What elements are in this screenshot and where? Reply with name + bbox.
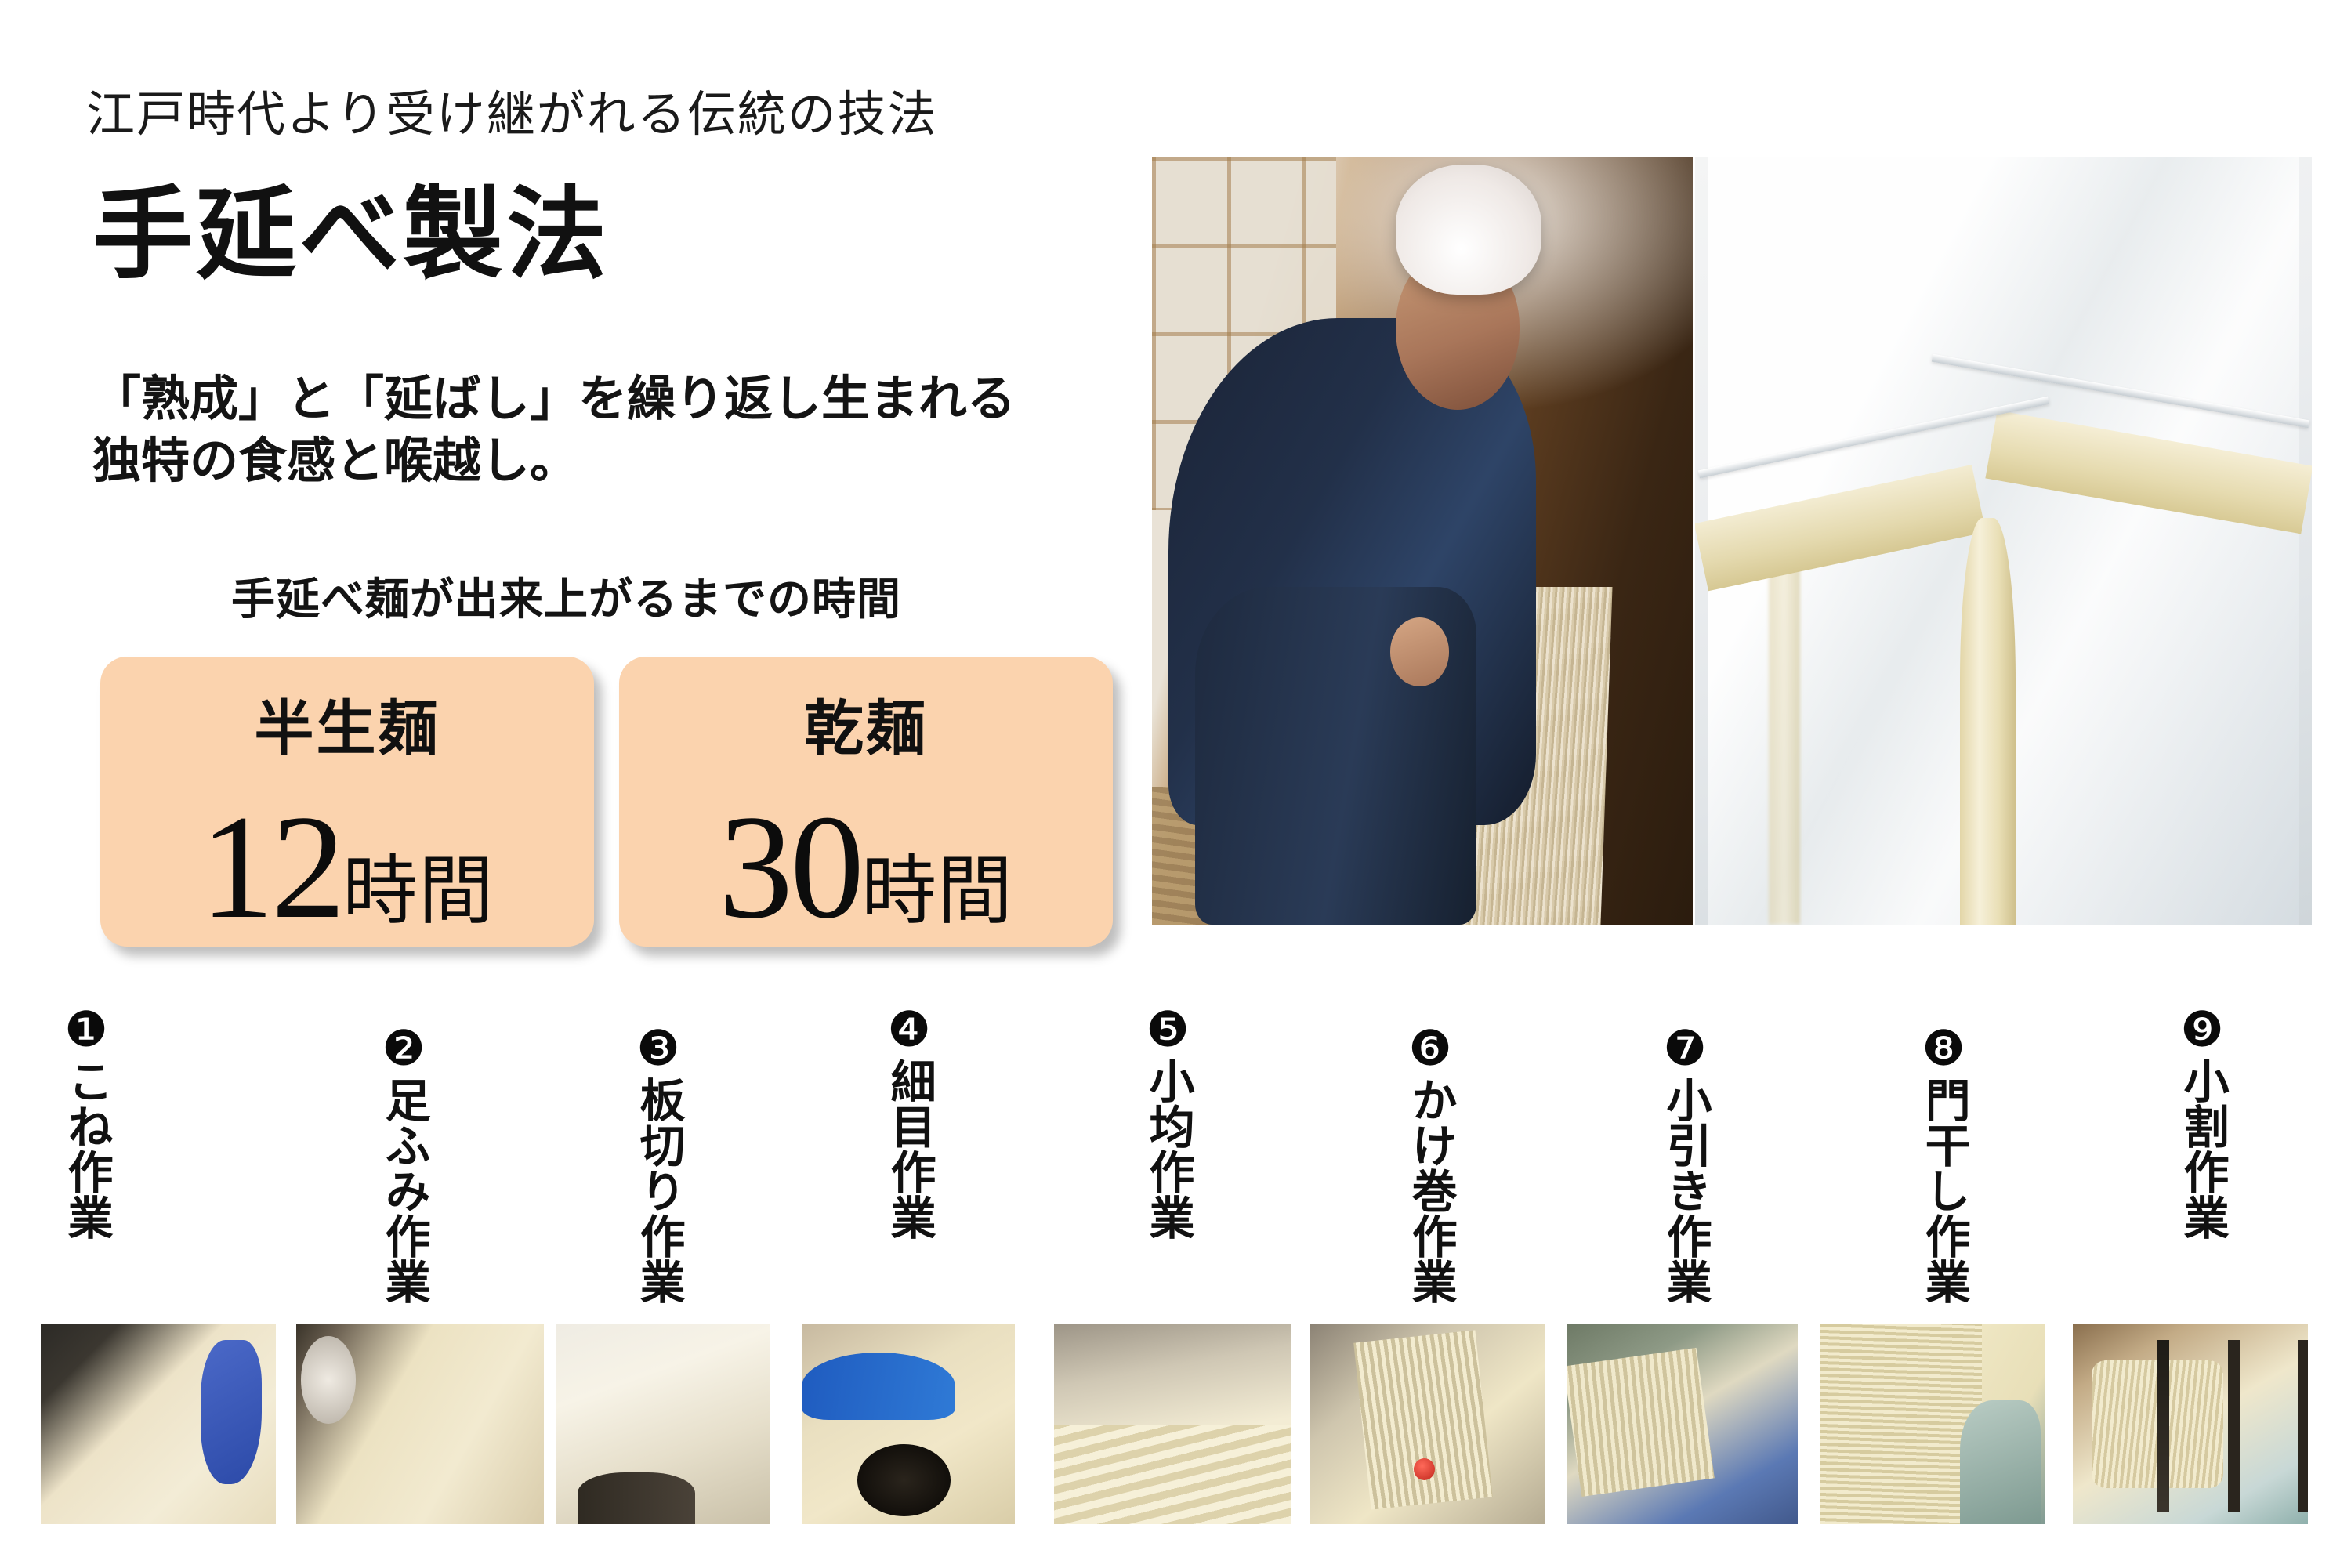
process-step-5: ❺ 小均作業	[1121, 1007, 1215, 1240]
process-step-7: ❼ 小引き作業	[1638, 1026, 1732, 1304]
step-number-badge: ❼	[1638, 1026, 1732, 1072]
time-section-caption: 手延べ麺が出来上がるまでの時間	[231, 564, 901, 628]
step-label: かけ巻作業	[1407, 1077, 1453, 1304]
hero-photo-craftsman	[1152, 157, 1693, 925]
step-thumbnail-8	[1820, 1324, 2045, 1524]
background-dough-strand	[1769, 556, 1799, 925]
step-number-badge: ❾	[2155, 1007, 2249, 1053]
time-card-unit: 時間	[342, 849, 494, 933]
process-step-list: ❶ こね作業 ❷ 足ふみ作業 ❸ 板切り作業 ❹ 細目作業 ❺ 小均作業 ❻ か…	[0, 1007, 2351, 1305]
step-label: 細目作業	[886, 1058, 932, 1240]
process-step-6: ❻ かけ巻作業	[1383, 1026, 1477, 1304]
hero-photo-stretched-dough	[1695, 157, 2312, 925]
step-label: 小均作業	[1144, 1058, 1190, 1240]
step-number-badge: ❺	[1121, 1007, 1215, 1053]
step-thumbnail-5	[1054, 1324, 1291, 1524]
time-card-value: 30時間	[619, 793, 1113, 942]
time-card-title: 半生麺	[100, 680, 594, 766]
eyebrow-text: 江戸時代より受け継がれる伝統の技法	[86, 74, 938, 145]
step-label: 門干し作業	[1920, 1077, 1966, 1304]
time-card-title: 乾麺	[619, 680, 1113, 766]
time-card-number: 12	[200, 785, 342, 950]
process-thumbnail-strip	[0, 1324, 2351, 1528]
time-card-number: 30	[719, 785, 861, 950]
step-thumbnail-7	[1567, 1324, 1798, 1524]
step-label: 板切り作業	[635, 1077, 681, 1304]
process-step-1: ❶ こね作業	[39, 1007, 133, 1240]
stretched-dough-photo-illustration	[1695, 157, 2312, 925]
step-number-badge: ❸	[611, 1026, 705, 1072]
time-card-value: 12時間	[100, 793, 594, 942]
time-card-hannama: 半生麺 12時間	[100, 657, 594, 947]
process-step-2: ❷ 足ふみ作業	[357, 1026, 451, 1304]
step-label: 足ふみ作業	[380, 1077, 426, 1304]
process-step-3: ❸ 板切り作業	[611, 1026, 705, 1304]
step-thumbnail-6	[1310, 1324, 1545, 1524]
step-thumbnail-9	[2073, 1324, 2308, 1524]
step-thumbnail-3	[556, 1324, 770, 1524]
process-step-9: ❾ 小割作業	[2155, 1007, 2249, 1240]
time-card-unit: 時間	[861, 849, 1013, 933]
step-number-badge: ❻	[1383, 1026, 1477, 1072]
craftsman-photo-illustration	[1152, 157, 1693, 925]
lede-paragraph: 「熟成」と「延ばし」を繰り返し生まれる 独特の食感と喉越し。	[92, 368, 1016, 493]
time-card-group: 半生麺 12時間 乾麺 30時間	[100, 657, 1113, 947]
step-number-badge: ❽	[1896, 1026, 1991, 1072]
process-step-4: ❹ 細目作業	[862, 1007, 956, 1240]
craftsman-cap	[1396, 165, 1541, 295]
time-card-kanmen: 乾麺 30時間	[619, 657, 1113, 947]
dough-strand-center	[1960, 518, 2016, 925]
process-step-8: ❽ 門干し作業	[1896, 1026, 1991, 1304]
lede-line-2: 独特の食感と喉越し。	[92, 430, 1016, 492]
step-label: こね作業	[63, 1058, 109, 1240]
step-number-badge: ❶	[39, 1007, 133, 1053]
craftsman-hand	[1390, 617, 1450, 686]
step-thumbnail-2	[296, 1324, 544, 1524]
lede-line-1: 「熟成」と「延ばし」を繰り返し生まれる	[92, 368, 1016, 430]
step-thumbnail-1	[41, 1324, 276, 1524]
step-number-badge: ❷	[357, 1026, 451, 1072]
page-title: 手延べ製法	[92, 153, 610, 298]
step-number-badge: ❹	[862, 1007, 956, 1053]
step-thumbnail-4	[802, 1324, 1015, 1524]
step-label: 小引き作業	[1661, 1077, 1708, 1304]
step-label: 小割作業	[2179, 1058, 2225, 1240]
